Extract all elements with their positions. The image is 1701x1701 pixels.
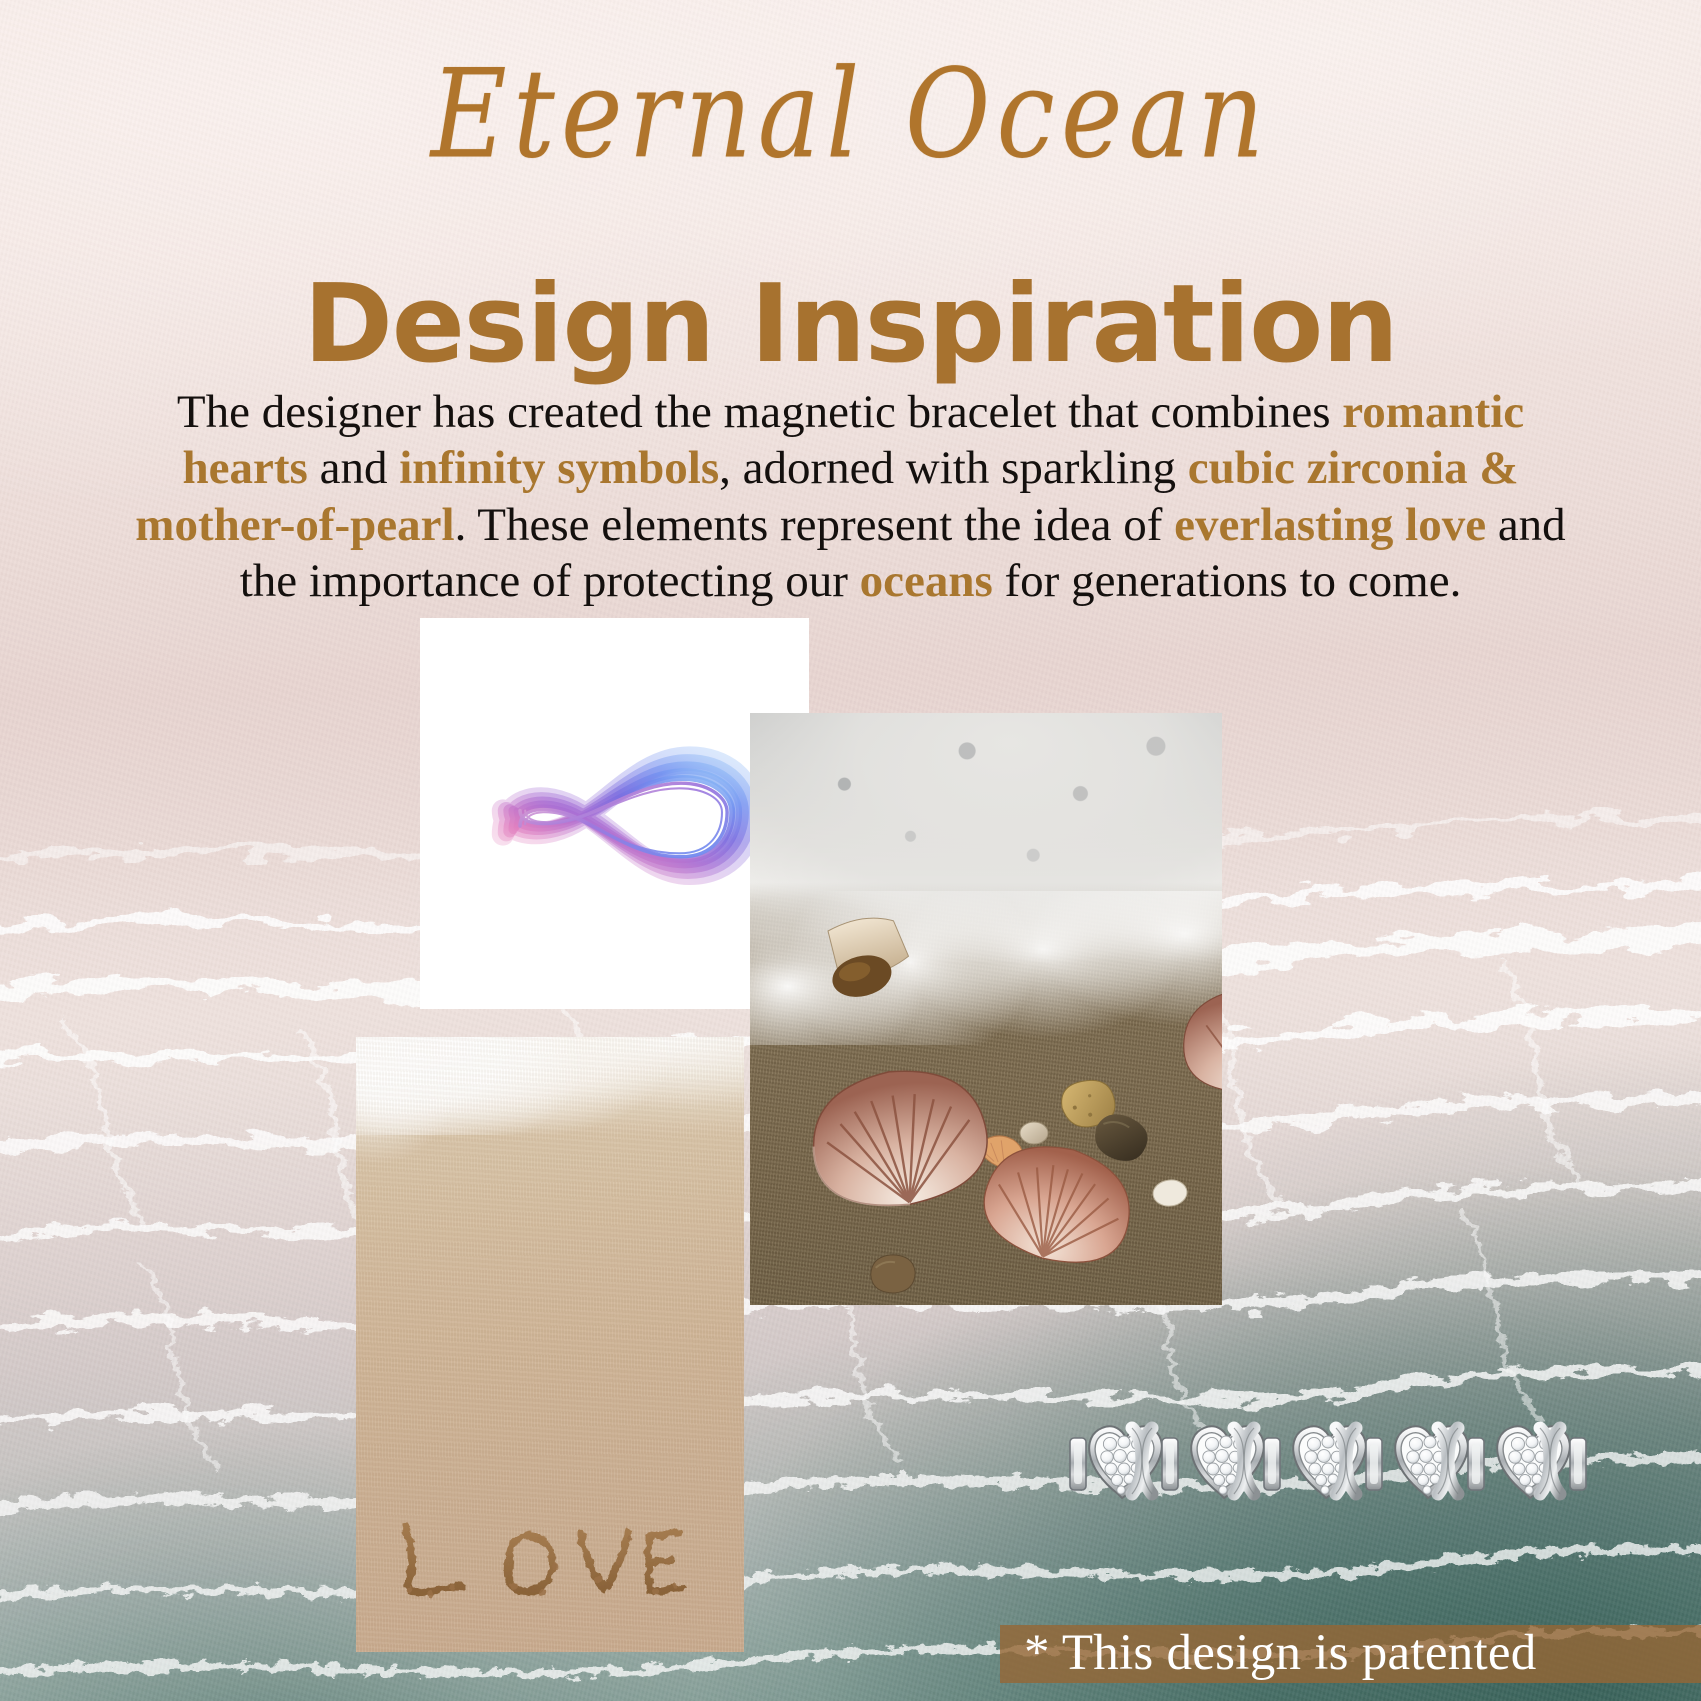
patent-note: * This design is patented: [1000, 1621, 1690, 1685]
paragraph-text: . These elements represent the idea of: [455, 499, 1175, 551]
script-subtitle: Eternal Ocean: [0, 42, 1701, 186]
page-title: Design Inspiration: [0, 268, 1701, 381]
paragraph-text: The designer has created the magnetic br…: [177, 386, 1342, 438]
paragraph-highlight: oceans: [860, 555, 993, 607]
shell-objects: [750, 713, 1222, 1305]
poster-canvas: Eternal Ocean Design Inspiration The des…: [0, 0, 1701, 1701]
paragraph-text: , adorned with sparkling: [719, 442, 1188, 494]
love-sand-writing: [387, 1514, 713, 1606]
seashells-sand-card: [750, 713, 1222, 1305]
infinity-icon: [443, 688, 785, 938]
paragraph-text: and: [308, 442, 399, 494]
paragraph-text: for generations to come.: [993, 555, 1462, 607]
heart-infinity-bracelet-image: [1062, 1398, 1622, 1518]
description-paragraph: The designer has created the magnetic br…: [118, 384, 1583, 610]
paragraph-highlight: infinity symbols: [399, 442, 719, 494]
love-sand-card: [356, 1037, 744, 1652]
paragraph-highlight: everlasting love: [1174, 499, 1486, 551]
